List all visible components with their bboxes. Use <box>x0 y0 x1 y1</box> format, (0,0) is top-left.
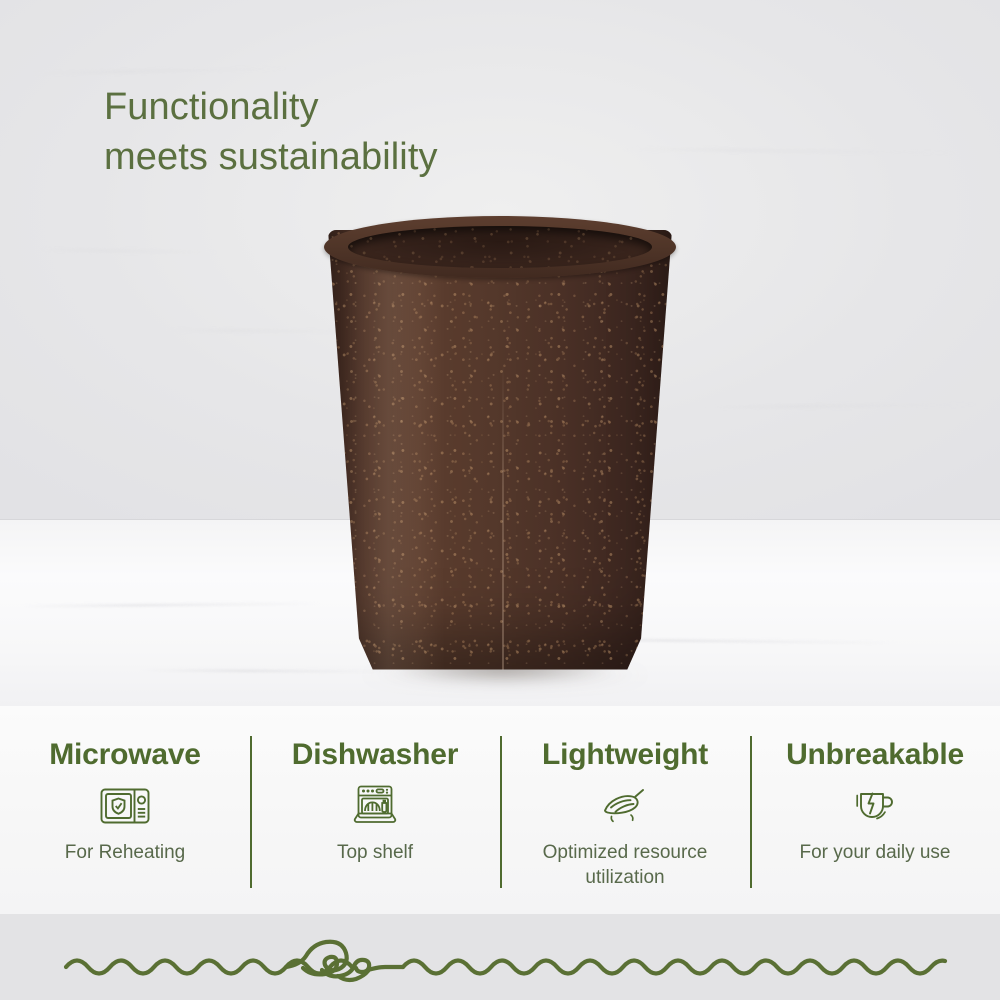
counter-vein <box>20 603 320 608</box>
mug-product-image <box>322 216 678 676</box>
mug-rim <box>324 216 676 278</box>
product-scene: Functionality meets sustainability <box>0 0 1000 706</box>
feature-subtitle: For your daily use <box>750 840 1000 865</box>
wall-vein <box>30 68 290 75</box>
wall-vein <box>620 148 960 154</box>
mug-highlight <box>342 230 445 674</box>
feature-dishwasher: Dishwasher <box>250 706 500 914</box>
wall-vein <box>40 249 220 254</box>
feature-unbreakable: Unbreakable For your daily use <box>750 706 1000 914</box>
page-title: Functionality meets sustainability <box>104 82 438 182</box>
feature-strip: Microwave For Reheating Dishwasher <box>0 706 1000 914</box>
feather-icon <box>599 784 651 828</box>
wave-footer <box>0 914 1000 1000</box>
mug-body <box>328 230 672 674</box>
cracked-cup-icon <box>849 784 901 828</box>
feature-title: Microwave <box>0 740 250 770</box>
feature-microwave: Microwave For Reheating <box>0 706 250 914</box>
wall-vein <box>700 404 980 409</box>
feature-subtitle: Optimized resource utilization <box>500 840 750 890</box>
feature-title: Lightweight <box>500 740 750 770</box>
mug-mold-seam <box>502 363 504 674</box>
feature-title: Dishwasher <box>250 740 500 770</box>
wave-line-icon <box>0 914 1000 1000</box>
product-feature-banner: Functionality meets sustainability Micro… <box>0 0 1000 1000</box>
microwave-icon <box>99 784 151 828</box>
dishwasher-icon <box>349 784 401 828</box>
mug-interior-speckle <box>348 226 652 268</box>
mug-interior <box>348 226 652 268</box>
feature-subtitle: Top shelf <box>250 840 500 865</box>
feature-subtitle: For Reheating <box>0 840 250 865</box>
feature-lightweight: Lightweight Optimized resource utilizati… <box>500 706 750 914</box>
feature-title: Unbreakable <box>750 740 1000 770</box>
